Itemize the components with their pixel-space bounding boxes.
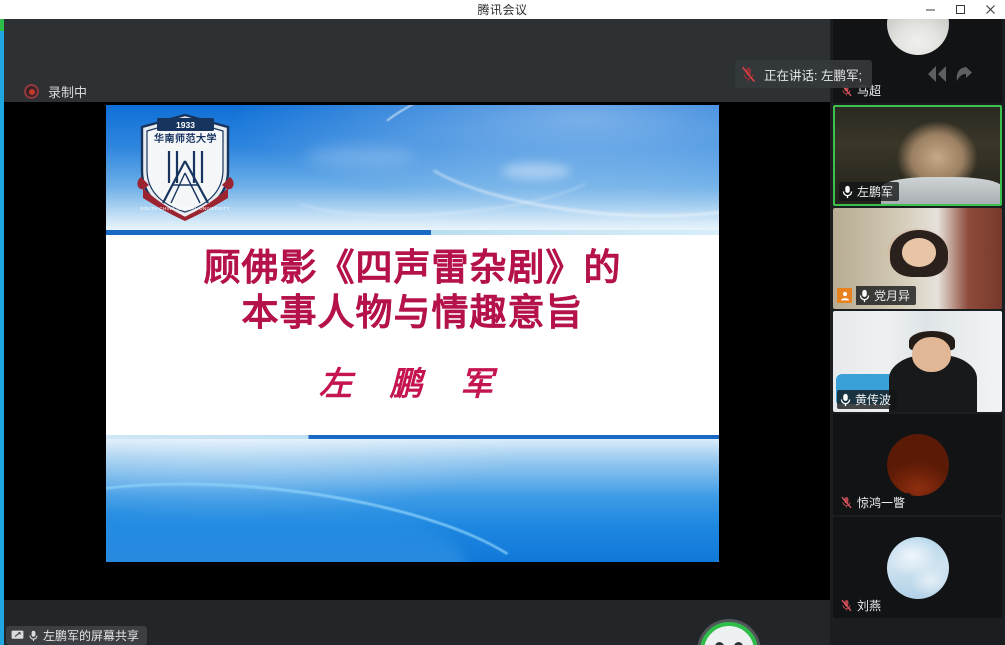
microphone-icon	[29, 630, 38, 642]
decorative-swoosh	[274, 124, 609, 227]
participant-name-badge: 左鹏军	[839, 182, 899, 201]
decorative-glow	[306, 145, 416, 167]
avatar	[887, 537, 949, 599]
slide-title: 顾佛影《四声雷杂剧》的 本事人物与情趣意旨	[204, 245, 622, 335]
presentation-slide: 1933 华南师范大学 SOUTH CHINA NORMAL UNIVERSIT…	[106, 105, 719, 562]
decorative-swoosh	[263, 451, 719, 562]
participant-name: 左鹏军	[857, 183, 893, 200]
microphone-icon	[842, 185, 853, 199]
microphone-muted-icon	[840, 496, 853, 509]
host-badge-icon	[837, 288, 852, 303]
screen-share-owner-label: 左鹏军的屏幕共享	[43, 627, 139, 644]
meeting-topbar: 录制中	[0, 19, 830, 102]
microphone-icon	[840, 393, 851, 407]
maximize-button[interactable]	[945, 0, 975, 19]
recording-dot-icon	[24, 84, 39, 99]
slide-title-line-1: 顾佛影《四声雷杂剧》的	[204, 245, 622, 290]
slide-header-band: 1933 华南师范大学 SOUTH CHINA NORMAL UNIVERSIT…	[106, 105, 719, 230]
avatar	[887, 434, 949, 496]
microphone-muted-icon	[741, 66, 756, 83]
participant-name: 惊鸿一瞥	[857, 494, 905, 511]
avatar	[887, 19, 949, 55]
maximize-icon	[955, 4, 966, 15]
participant-name-badge: 黄传波	[837, 390, 897, 409]
participant-tile-dangyueyi[interactable]: 党月异	[833, 208, 1002, 309]
screen-share-icon	[11, 630, 24, 641]
slide-footer-band: 1	[106, 435, 719, 562]
participant-tile-zuopengjun[interactable]: 左鹏军	[833, 105, 1002, 206]
microphone-muted-icon	[840, 599, 853, 612]
microphone-icon	[859, 289, 870, 303]
minimize-icon	[925, 4, 936, 15]
minimize-button[interactable]	[915, 0, 945, 19]
recording-indicator: 录制中	[24, 82, 87, 101]
participant-name-badge: 惊鸿一瞥	[837, 493, 911, 512]
slide-body: 顾佛影《四声雷杂剧》的 本事人物与情趣意旨 左 鹏 军	[106, 235, 719, 435]
slide-author: 左 鹏 军	[319, 357, 506, 405]
participant-name: 黄传波	[855, 391, 891, 408]
window-title: 腾讯会议	[477, 1, 527, 18]
recording-label: 录制中	[48, 82, 87, 101]
window-titlebar: 腾讯会议	[0, 0, 1005, 19]
window-controls	[915, 0, 1005, 19]
participant-tile-liuyan[interactable]: 刘燕	[833, 517, 1002, 618]
decorative-swoosh	[402, 105, 719, 232]
crest-year: 1933	[176, 120, 195, 130]
back-arrow-icon[interactable]	[954, 63, 974, 85]
close-button[interactable]	[975, 0, 1005, 19]
slide-title-line-2: 本事人物与情趣意旨	[204, 290, 622, 335]
slide-footer-divider	[106, 435, 719, 439]
decorative-glow	[501, 163, 571, 179]
shared-screen-stage: 1933 华南师范大学 SOUTH CHINA NORMAL UNIVERSIT…	[0, 102, 830, 600]
decorative-swoosh	[347, 105, 719, 240]
tencent-meeting-window: 腾讯会议 录制中	[0, 0, 1005, 645]
close-icon	[985, 4, 996, 15]
svg-text:华南师范大学: 华南师范大学	[154, 132, 217, 145]
participant-name: 刘燕	[857, 597, 881, 614]
screen-share-label-pill[interactable]: 左鹏军的屏幕共享	[6, 626, 147, 645]
participant-name-badge: 刘燕	[837, 596, 887, 615]
participant-name: 党月异	[874, 287, 910, 304]
participant-tile-jinghongyipie[interactable]: 惊鸿一瞥	[833, 414, 1002, 515]
active-speaker-banner: 正在讲话: 左鹏军;	[735, 60, 872, 88]
screen-share-border-accent	[0, 19, 4, 31]
floating-controls[interactable]	[925, 57, 985, 91]
rewind-icon[interactable]	[925, 63, 951, 85]
participant-tile-huangchuanbo[interactable]: 黄传波	[833, 311, 1002, 412]
university-crest-logo: 1933 华南师范大学 SOUTH CHINA NORMAL UNIVERSIT…	[133, 111, 238, 221]
svg-text:SOUTH CHINA NORMAL UNIVERSITY: SOUTH CHINA NORMAL UNIVERSITY	[140, 206, 230, 211]
active-speaker-label: 正在讲话: 左鹏军;	[764, 65, 862, 84]
participant-name-badge: 党月异	[837, 285, 922, 306]
participant-sidebar[interactable]: 马超 左鹏军	[830, 19, 1005, 645]
